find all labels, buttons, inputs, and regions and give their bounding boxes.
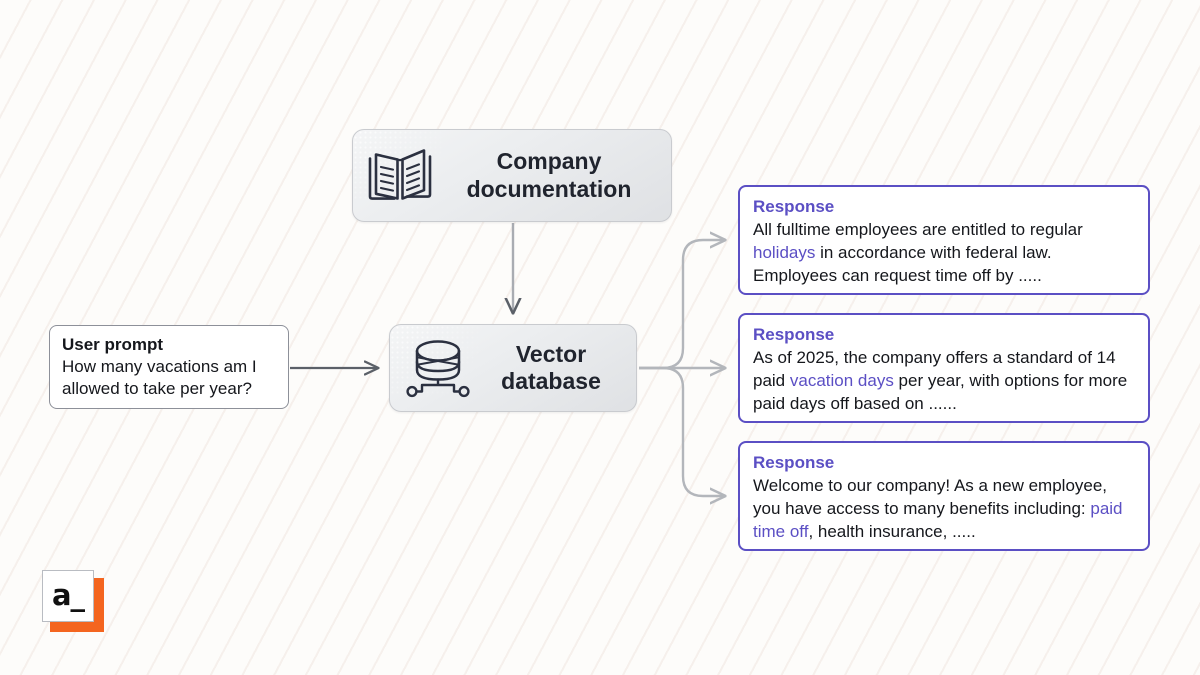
database-cylinder-icon bbox=[400, 337, 476, 399]
diagram-canvas: Company documentation Vector database bbox=[0, 0, 1200, 675]
card-response-2[interactable]: Response As of 2025, the company offers … bbox=[738, 313, 1150, 423]
response-body: Welcome to our company! As a new employe… bbox=[753, 475, 1135, 543]
response-text: Welcome to our company! As a new employe… bbox=[753, 476, 1107, 518]
response-title: Response bbox=[753, 324, 1135, 346]
connector-vdb-to-response-3 bbox=[639, 368, 725, 496]
response-text: , health insurance, ..... bbox=[808, 522, 975, 541]
node-vector-database[interactable]: Vector database bbox=[389, 324, 637, 412]
card-response-3[interactable]: Response Welcome to our company! As a ne… bbox=[738, 441, 1150, 551]
response-body: As of 2025, the company offers a standar… bbox=[753, 347, 1135, 415]
response-text: All fulltime employees are entitled to r… bbox=[753, 220, 1083, 239]
node-company-documentation[interactable]: Company documentation bbox=[352, 129, 672, 222]
card-response-1[interactable]: Response All fulltime employees are enti… bbox=[738, 185, 1150, 295]
user-prompt-body: How many vacations am I allowed to take … bbox=[62, 356, 276, 400]
user-prompt-body-line-1: How many vacations am I bbox=[62, 357, 257, 376]
doc-label-line-2: documentation bbox=[467, 176, 632, 202]
response-highlight: vacation days bbox=[790, 371, 894, 390]
response-highlight: holidays bbox=[753, 243, 815, 262]
connector-vdb-to-response-1 bbox=[639, 240, 725, 368]
logo-white-square: a_ bbox=[42, 570, 94, 622]
response-title: Response bbox=[753, 196, 1135, 218]
open-book-icon bbox=[363, 146, 437, 206]
vdb-label-line-2: database bbox=[501, 368, 601, 394]
card-user-prompt[interactable]: User prompt How many vacations am I allo… bbox=[49, 325, 289, 409]
user-prompt-body-line-2: allowed to take per year? bbox=[62, 379, 252, 398]
node-label-vector-database: Vector database bbox=[476, 341, 632, 395]
node-label-company-documentation: Company documentation bbox=[437, 148, 667, 202]
vdb-label-line-1: Vector bbox=[516, 341, 586, 367]
doc-label-line-1: Company bbox=[497, 148, 602, 174]
response-body: All fulltime employees are entitled to r… bbox=[753, 219, 1135, 287]
logo-text: a_ bbox=[52, 581, 84, 610]
brand-logo: a_ bbox=[42, 570, 104, 632]
response-title: Response bbox=[753, 452, 1135, 474]
user-prompt-title: User prompt bbox=[62, 334, 276, 356]
